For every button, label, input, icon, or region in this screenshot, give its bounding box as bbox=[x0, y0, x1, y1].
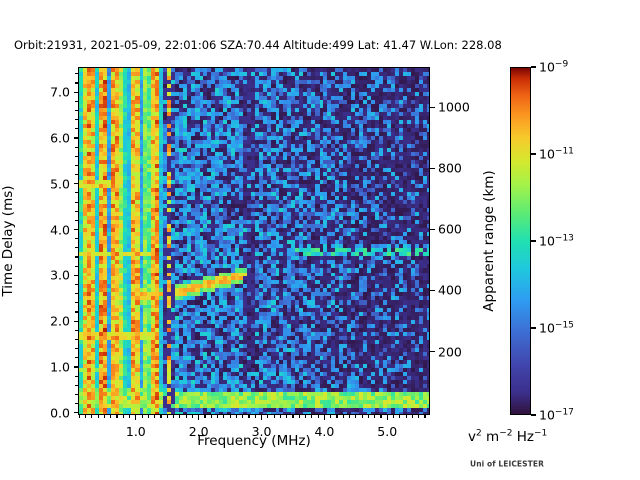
y-tick-minor bbox=[75, 192, 78, 193]
x-tick-minor bbox=[418, 415, 419, 418]
colorbar-tick-mark bbox=[531, 240, 536, 241]
y-tick-minor bbox=[75, 266, 78, 267]
ionogram-plot-area bbox=[78, 67, 430, 415]
x-tick-minor bbox=[123, 415, 124, 418]
x-tick-minor bbox=[318, 415, 319, 418]
y-tick-minor bbox=[75, 156, 78, 157]
x-tick-minor bbox=[267, 415, 268, 418]
y-tick-minor bbox=[75, 403, 78, 404]
x-tick-minor bbox=[311, 415, 312, 418]
y-tick-minor bbox=[75, 256, 78, 257]
x-tick-minor bbox=[186, 415, 187, 418]
y-tick-minor bbox=[75, 284, 78, 285]
x-axis-label: Frequency (MHz) bbox=[197, 433, 310, 449]
colorbar-tick-mark bbox=[531, 327, 536, 328]
y2-tick-major bbox=[430, 168, 435, 169]
x-tick-minor bbox=[204, 415, 205, 418]
y-tick-minor bbox=[75, 247, 78, 248]
y-tick-minor bbox=[75, 101, 78, 102]
x-tick-minor bbox=[148, 415, 149, 418]
y-tick-minor bbox=[75, 110, 78, 111]
y-tick-minor bbox=[75, 376, 78, 377]
x-tick-minor bbox=[129, 415, 130, 418]
x-tick-label: 4.0 bbox=[314, 424, 334, 439]
y2-tick-major bbox=[430, 290, 435, 291]
x-tick-minor bbox=[173, 415, 174, 418]
y2-axis-label: Apparent range (km) bbox=[481, 170, 497, 311]
y-tick-minor bbox=[75, 220, 78, 221]
x-tick-minor bbox=[217, 415, 218, 418]
x-tick-major bbox=[135, 415, 136, 420]
colorbar bbox=[510, 67, 531, 415]
colorbar-tick-label: 10−11 bbox=[539, 147, 574, 162]
y-tick-minor bbox=[75, 348, 78, 349]
x-tick-minor bbox=[368, 415, 369, 418]
x-tick-minor bbox=[85, 415, 86, 418]
y2-tick-major bbox=[430, 229, 435, 230]
x-tick-minor bbox=[255, 415, 256, 418]
y2-tick-label: 200 bbox=[438, 344, 462, 359]
x-tick-minor bbox=[116, 415, 117, 418]
x-tick-minor bbox=[336, 415, 337, 418]
x-tick-minor bbox=[343, 415, 344, 418]
x-tick-minor bbox=[230, 415, 231, 418]
y2-tick-label: 600 bbox=[438, 222, 462, 237]
colorbar-tick-label: 10−15 bbox=[539, 321, 574, 336]
x-tick-minor bbox=[280, 415, 281, 418]
x-tick-label: 1.0 bbox=[126, 424, 146, 439]
x-tick-minor bbox=[154, 415, 155, 418]
heatmap-canvas bbox=[79, 68, 430, 415]
x-tick-minor bbox=[211, 415, 212, 418]
x-tick-minor bbox=[305, 415, 306, 418]
colorbar-units-label: v2 m−2 Hz−1 bbox=[468, 429, 547, 445]
y-tick-minor bbox=[75, 73, 78, 74]
y2-tick-major bbox=[430, 107, 435, 108]
x-tick-minor bbox=[406, 415, 407, 418]
x-tick-minor bbox=[424, 415, 425, 418]
x-tick-minor bbox=[104, 415, 105, 418]
y-tick-major bbox=[74, 137, 79, 138]
x-tick-minor bbox=[274, 415, 275, 418]
y-tick-label: 0.0 bbox=[36, 405, 70, 420]
colorbar-tick-label: 10−17 bbox=[539, 408, 574, 423]
y-tick-minor bbox=[75, 238, 78, 239]
colorbar-tick-mark bbox=[531, 66, 536, 67]
x-tick-minor bbox=[223, 415, 224, 418]
x-tick-major bbox=[261, 415, 262, 420]
y-tick-label: 6.0 bbox=[36, 130, 70, 145]
x-tick-minor bbox=[98, 415, 99, 418]
y-tick-major bbox=[74, 92, 79, 93]
y-tick-major bbox=[74, 321, 79, 322]
x-tick-minor bbox=[374, 415, 375, 418]
y-tick-major bbox=[74, 183, 79, 184]
x-tick-minor bbox=[167, 415, 168, 418]
x-tick-minor bbox=[399, 415, 400, 418]
y-tick-minor bbox=[75, 211, 78, 212]
y-tick-label: 4.0 bbox=[36, 222, 70, 237]
credit-label: Uni of LEICESTER bbox=[470, 460, 544, 469]
y-tick-minor bbox=[75, 174, 78, 175]
y-tick-minor bbox=[75, 82, 78, 83]
x-tick-minor bbox=[110, 415, 111, 418]
y-tick-minor bbox=[75, 339, 78, 340]
y-tick-label: 1.0 bbox=[36, 359, 70, 374]
ionogram-figure: Orbit:21931, 2021-05-09, 22:01:06 SZA:70… bbox=[0, 0, 640, 480]
y2-tick-major bbox=[430, 351, 435, 352]
x-tick-minor bbox=[292, 415, 293, 418]
page-title: Orbit:21931, 2021-05-09, 22:01:06 SZA:70… bbox=[14, 38, 502, 52]
y-tick-minor bbox=[75, 330, 78, 331]
y-tick-minor bbox=[75, 302, 78, 303]
y2-tick-label: 400 bbox=[438, 283, 462, 298]
x-tick-minor bbox=[160, 415, 161, 418]
y-tick-minor bbox=[75, 128, 78, 129]
y-tick-minor bbox=[75, 394, 78, 395]
y-tick-major bbox=[74, 229, 79, 230]
x-tick-minor bbox=[380, 415, 381, 418]
y-tick-label: 5.0 bbox=[36, 176, 70, 191]
y-tick-minor bbox=[75, 311, 78, 312]
colorbar-tick-mark bbox=[531, 153, 536, 154]
x-tick-minor bbox=[299, 415, 300, 418]
x-tick-minor bbox=[248, 415, 249, 418]
y-tick-minor bbox=[75, 165, 78, 166]
x-tick-minor bbox=[242, 415, 243, 418]
x-tick-major bbox=[387, 415, 388, 420]
x-tick-label: 5.0 bbox=[377, 424, 397, 439]
x-tick-minor bbox=[91, 415, 92, 418]
x-tick-minor bbox=[412, 415, 413, 418]
x-tick-minor bbox=[355, 415, 356, 418]
x-tick-minor bbox=[79, 415, 80, 418]
y2-tick-label: 800 bbox=[438, 161, 462, 176]
y-tick-minor bbox=[75, 385, 78, 386]
y-tick-minor bbox=[75, 119, 78, 120]
colorbar-tick-label: 10−9 bbox=[539, 60, 568, 75]
colorbar-gradient bbox=[511, 68, 530, 414]
x-tick-minor bbox=[179, 415, 180, 418]
y-tick-major bbox=[74, 275, 79, 276]
y-tick-minor bbox=[75, 293, 78, 294]
x-tick-minor bbox=[236, 415, 237, 418]
x-tick-minor bbox=[393, 415, 394, 418]
y-tick-major bbox=[74, 412, 79, 413]
y2-tick-label: 1000 bbox=[438, 100, 470, 115]
x-tick-minor bbox=[362, 415, 363, 418]
colorbar-tick-mark bbox=[531, 414, 536, 415]
x-tick-minor bbox=[142, 415, 143, 418]
x-tick-major bbox=[324, 415, 325, 420]
x-tick-minor bbox=[349, 415, 350, 418]
y-tick-minor bbox=[75, 202, 78, 203]
y-axis-label: Time Delay (ms) bbox=[0, 185, 16, 296]
x-tick-minor bbox=[286, 415, 287, 418]
y-tick-minor bbox=[75, 147, 78, 148]
y-tick-major bbox=[74, 366, 79, 367]
y-tick-label: 2.0 bbox=[36, 314, 70, 329]
colorbar-tick-label: 10−13 bbox=[539, 234, 574, 249]
y-tick-label: 7.0 bbox=[36, 85, 70, 100]
y-tick-label: 3.0 bbox=[36, 268, 70, 283]
y-tick-minor bbox=[75, 357, 78, 358]
x-tick-minor bbox=[330, 415, 331, 418]
x-tick-minor bbox=[192, 415, 193, 418]
x-tick-major bbox=[198, 415, 199, 420]
